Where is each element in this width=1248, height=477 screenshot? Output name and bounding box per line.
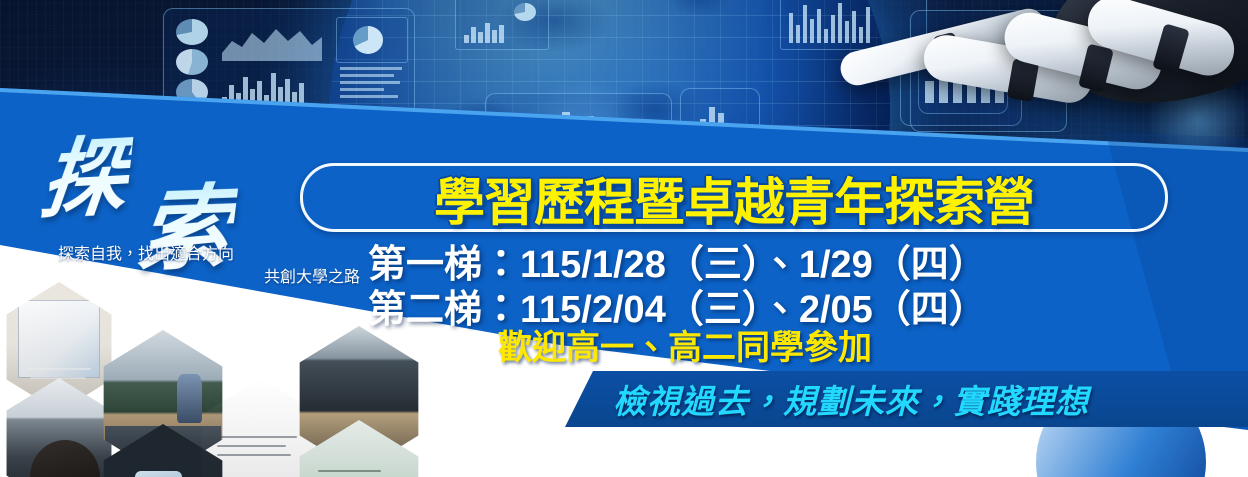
photo-collage <box>0 282 492 477</box>
radial-chart-panel <box>336 17 408 63</box>
hud-mini-panel <box>455 0 549 50</box>
bottom-slogan-bar: 檢視過去，規劃未來，實踐理想 <box>565 371 1248 427</box>
sub-slogan-line1: 探索自我，找出適合方向 <box>58 244 234 263</box>
main-title-text: 學習歷程暨卓越青年探索營 <box>434 161 1034 235</box>
pie-chart-icon <box>176 19 208 45</box>
text-lines-graphic <box>340 67 402 98</box>
brush-char-tan: 探 <box>35 106 137 235</box>
bar-chart-graphic <box>464 21 504 43</box>
bottom-slogan-text: 檢視過去，規劃未來，實踐理想 <box>613 375 1089 423</box>
radial-chart-icon <box>353 26 383 54</box>
pie-chart-icon <box>176 49 208 75</box>
area-chart-graphic <box>222 21 322 61</box>
pie-chart-icon <box>514 3 536 21</box>
event-banner: 探 索 探索自我，找出適合方向 共創大學之路 學習歷程暨卓越青年探索營 第一梯：… <box>0 0 1248 477</box>
collage-photo-board <box>290 420 428 477</box>
main-title-pill: 學習歷程暨卓越青年探索營 <box>300 163 1168 232</box>
welcome-note: 歡迎高一、高二同學參加 <box>498 320 872 369</box>
